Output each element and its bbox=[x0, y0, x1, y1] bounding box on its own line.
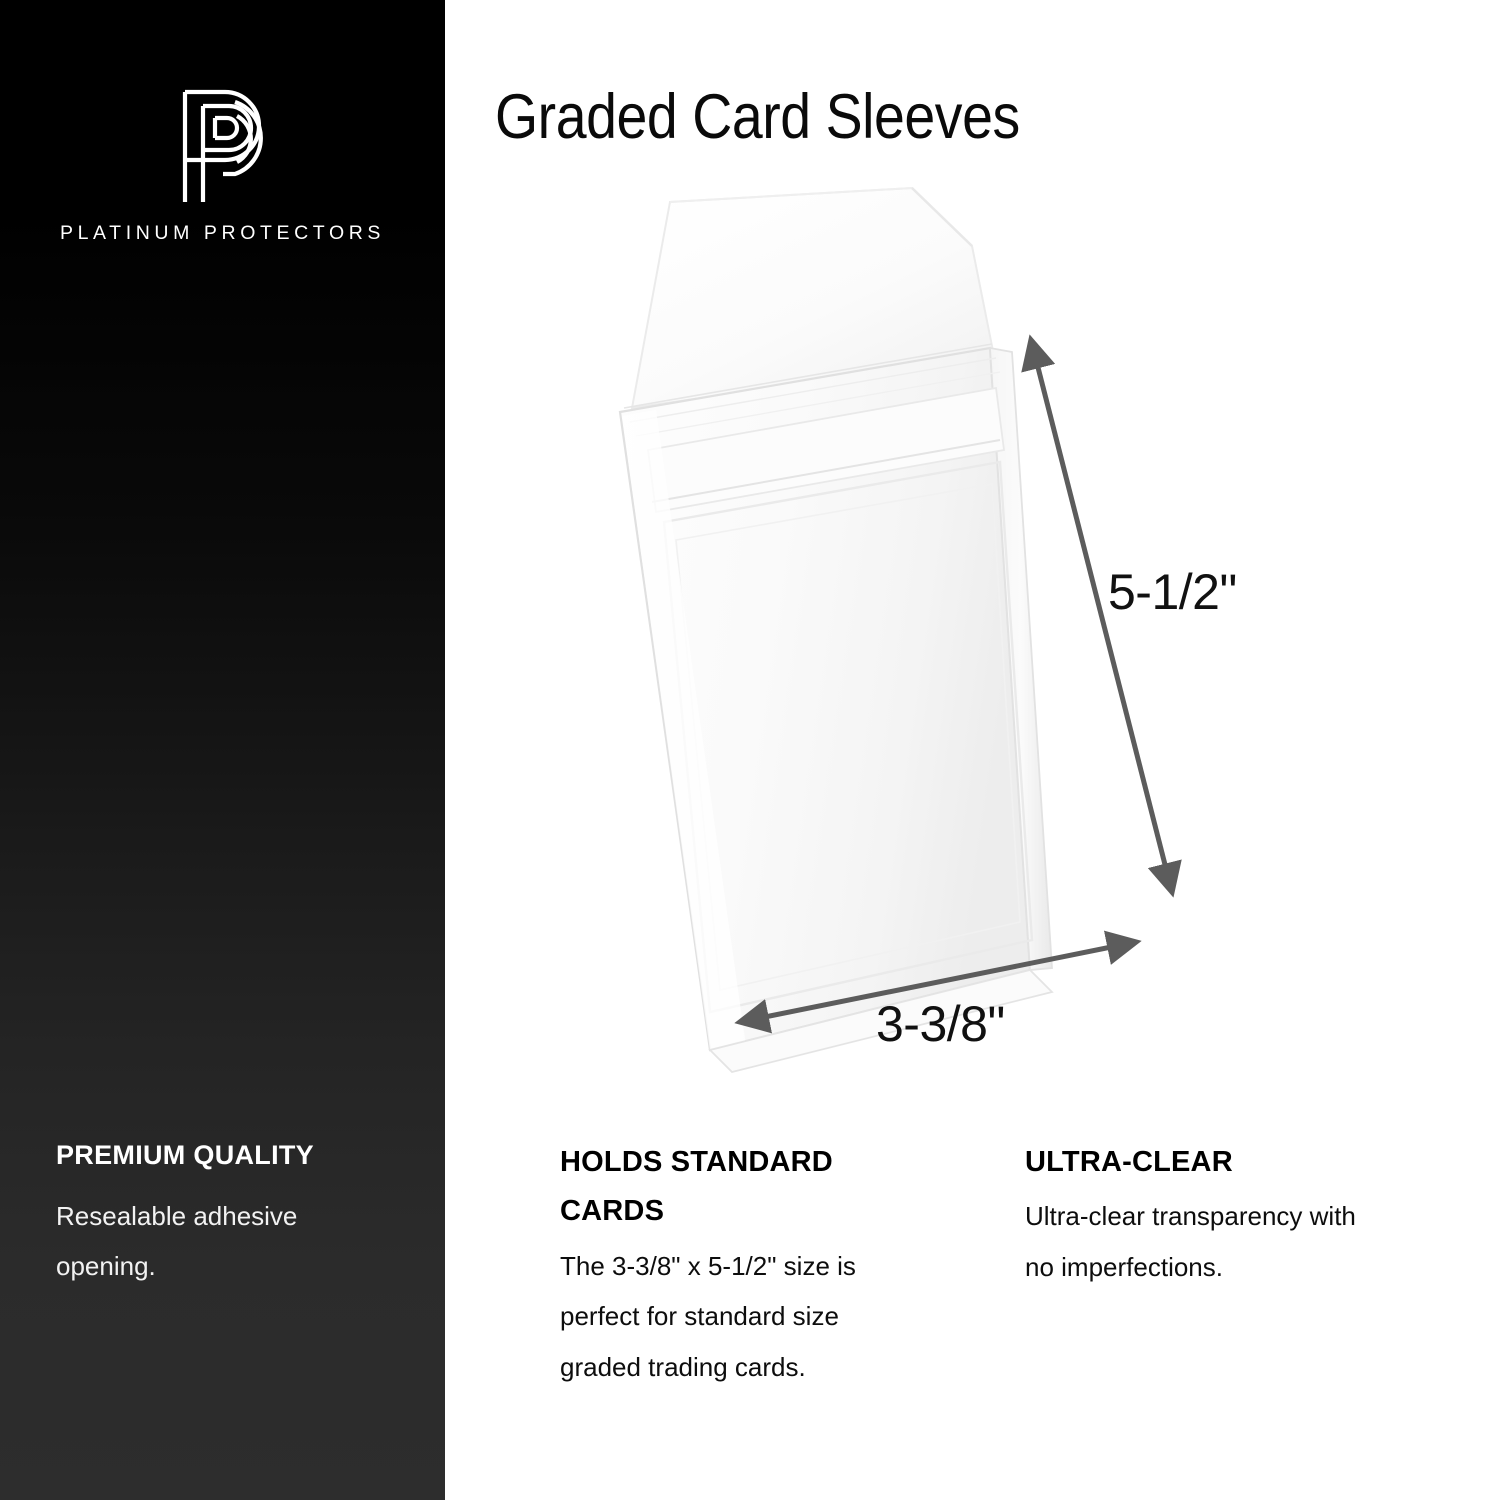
brand-panel: PLATINUM PROTECTORS PREMIUM QUALITY Rese… bbox=[0, 0, 445, 1500]
page-title: Graded Card Sleeves bbox=[495, 84, 1020, 150]
feature-body: Resealable adhesive opening. bbox=[56, 1191, 396, 1292]
product-sleeve-image bbox=[560, 150, 1200, 1080]
feature-body: Ultra-clear transparency with no imperfe… bbox=[1025, 1191, 1380, 1292]
sleeve-body bbox=[620, 344, 1052, 1072]
width-dimension-label: 3-3/8" bbox=[876, 995, 1005, 1053]
feature-title: PREMIUM QUALITY bbox=[56, 1138, 396, 1173]
feature-title: HOLDS STANDARD CARDS bbox=[560, 1138, 900, 1237]
feature-body: The 3-3/8" x 5-1/2" size is perfect for … bbox=[560, 1241, 900, 1393]
brand-wordmark: PLATINUM PROTECTORS bbox=[0, 222, 445, 245]
feature-holds-standard-cards: HOLDS STANDARD CARDS The 3-3/8" x 5-1/2"… bbox=[560, 1138, 900, 1393]
feature-title: ULTRA-CLEAR bbox=[1025, 1138, 1380, 1187]
height-dimension-label: 5-1/2" bbox=[1108, 563, 1237, 621]
feature-ultra-clear: ULTRA-CLEAR Ultra-clear transparency wit… bbox=[1025, 1138, 1380, 1293]
infographic-page: PLATINUM PROTECTORS PREMIUM QUALITY Rese… bbox=[0, 0, 1500, 1500]
feature-premium-quality: PREMIUM QUALITY Resealable adhesive open… bbox=[56, 1138, 396, 1292]
double-p-monogram-icon bbox=[163, 82, 283, 212]
